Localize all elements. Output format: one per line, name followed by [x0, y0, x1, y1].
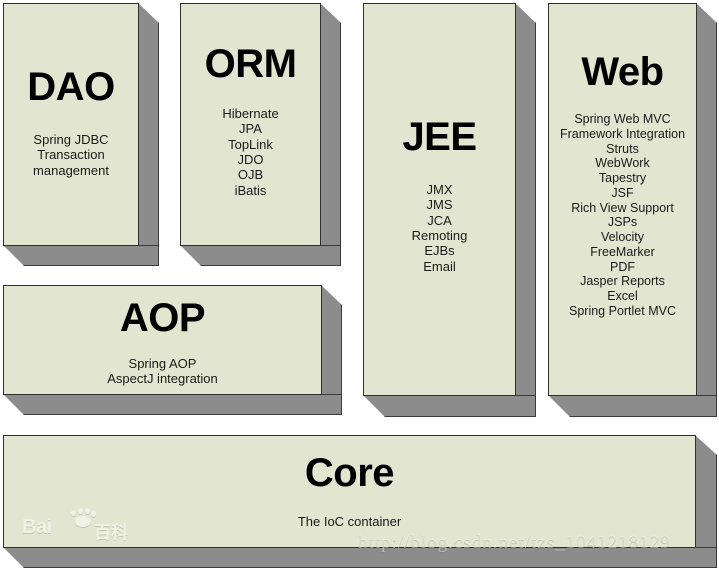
block-jee-bottom-face	[363, 395, 536, 417]
list-item: JMX	[364, 182, 515, 197]
list-item: Spring AOP	[4, 356, 321, 371]
block-dao-side-face	[138, 3, 159, 246]
block-aop-items: Spring AOP AspectJ integration	[4, 356, 321, 387]
block-web-title: Web	[549, 52, 696, 92]
block-core-title: Core	[4, 453, 695, 493]
list-item: Spring JDBC	[4, 132, 138, 147]
block-web-front-face: Web Spring Web MVC Framework Integration…	[548, 3, 697, 396]
block-aop-front-face: AOP Spring AOP AspectJ integration	[3, 285, 322, 395]
block-orm-side-face	[320, 3, 341, 246]
list-item: Remoting	[364, 228, 515, 243]
block-orm-title: ORM	[181, 44, 320, 84]
block-jee-items: JMX JMS JCA Remoting EJBs Email	[364, 182, 515, 274]
list-item: Velocity	[549, 230, 696, 245]
block-dao-title: DAO	[4, 67, 138, 107]
block-dao-front-face: DAO Spring JDBC Transaction management	[3, 3, 139, 246]
list-item: Transaction	[4, 147, 138, 162]
block-web-items: Spring Web MVC Framework Integration Str…	[549, 112, 696, 319]
block-orm: ORM Hibernate JPA TopLink JDO OJB iBatis	[180, 3, 340, 265]
block-core: Core The IoC container Bai 百科	[3, 435, 717, 565]
list-item: Tapestry	[549, 171, 696, 186]
block-core-side-face	[695, 435, 717, 548]
block-jee-title: JEE	[364, 117, 515, 157]
list-item: management	[4, 163, 138, 178]
list-item: Framework Integration	[549, 127, 696, 142]
list-item: JSPs	[549, 215, 696, 230]
list-item: JCA	[364, 213, 515, 228]
list-item: Rich View Support	[549, 201, 696, 216]
block-orm-items: Hibernate JPA TopLink JDO OJB iBatis	[181, 106, 320, 198]
block-aop-title: AOP	[4, 298, 321, 338]
list-item: Hibernate	[181, 106, 320, 121]
block-dao-bottom-face	[3, 245, 159, 266]
list-item: Excel	[549, 289, 696, 304]
list-item: Jasper Reports	[549, 274, 696, 289]
list-item: Email	[364, 259, 515, 274]
block-orm-front-face: ORM Hibernate JPA TopLink JDO OJB iBatis	[180, 3, 321, 246]
block-orm-bottom-face	[180, 245, 341, 266]
block-dao-items: Spring JDBC Transaction management	[4, 132, 138, 178]
list-item: JSF	[549, 186, 696, 201]
block-core-subtitle: The IoC container	[4, 514, 695, 529]
list-item: iBatis	[181, 183, 320, 198]
list-item: JDO	[181, 152, 320, 167]
block-aop-side-face	[321, 285, 342, 395]
list-item: Struts	[549, 142, 696, 157]
block-core-front-face: Core The IoC container	[3, 435, 696, 548]
list-item: Spring Portlet MVC	[549, 304, 696, 319]
block-web: Web Spring Web MVC Framework Integration…	[548, 3, 717, 418]
list-item: OJB	[181, 167, 320, 182]
list-item: FreeMarker	[549, 245, 696, 260]
list-item: AspectJ integration	[4, 371, 321, 386]
list-item: PDF	[549, 260, 696, 275]
spring-architecture-diagram: DAO Spring JDBC Transaction management O…	[0, 0, 719, 568]
list-item: TopLink	[181, 137, 320, 152]
block-jee-side-face	[515, 3, 536, 396]
block-web-bottom-face	[548, 395, 717, 417]
list-item: EJBs	[364, 243, 515, 258]
block-aop: AOP Spring AOP AspectJ integration	[3, 285, 343, 415]
list-item: WebWork	[549, 156, 696, 171]
list-item: JMS	[364, 197, 515, 212]
block-web-side-face	[696, 3, 717, 396]
block-jee-front-face: JEE JMX JMS JCA Remoting EJBs Email	[363, 3, 516, 396]
list-item: Spring Web MVC	[549, 112, 696, 127]
block-jee: JEE JMX JMS JCA Remoting EJBs Email	[363, 3, 536, 418]
block-dao: DAO Spring JDBC Transaction management	[3, 3, 158, 265]
block-aop-bottom-face	[3, 394, 342, 415]
block-core-bottom-face	[3, 547, 717, 568]
list-item: JPA	[181, 121, 320, 136]
